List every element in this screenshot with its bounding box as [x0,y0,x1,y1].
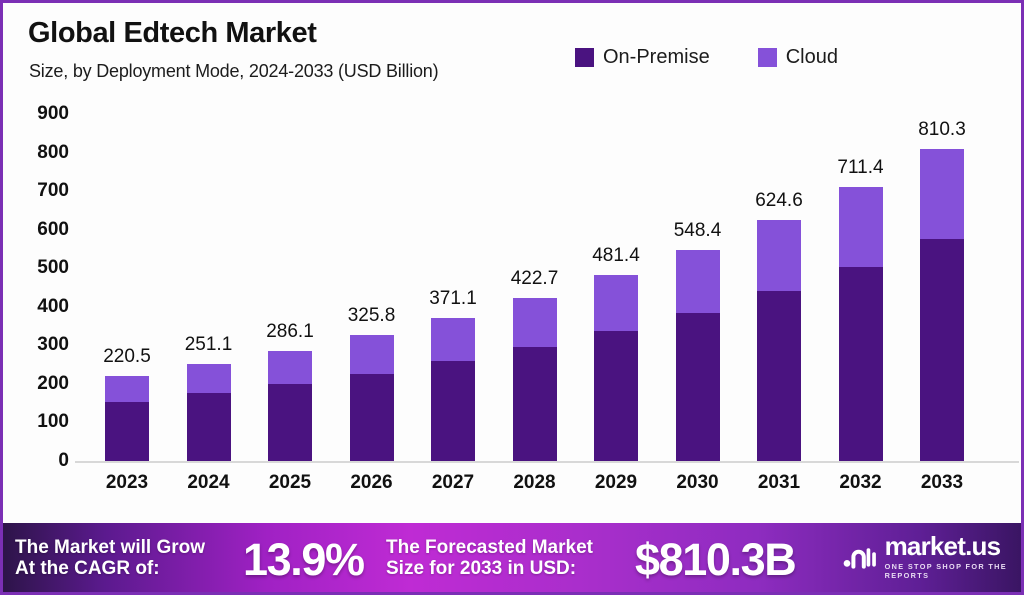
bar-segment-on-premise[interactable] [431,361,475,461]
forecast-value: $810.3B [635,537,795,582]
stacked-bar[interactable] [676,250,720,461]
bar-segment-cloud[interactable] [431,318,475,361]
stacked-bar[interactable] [594,275,638,461]
stacked-bar[interactable] [431,318,475,461]
bar-segment-on-premise[interactable] [350,374,394,461]
bar-segment-cloud[interactable] [839,187,883,268]
stacked-bar[interactable] [350,335,394,461]
bar-segment-cloud[interactable] [350,335,394,373]
bar-group[interactable]: 325.82026 [350,3,394,516]
bar-segment-cloud[interactable] [187,364,231,393]
cagr-label-line2: At the CAGR of: [15,558,245,579]
stacked-bar[interactable] [187,364,231,461]
bar-segment-cloud[interactable] [920,149,964,240]
chart-plot-area: 0100200300400500600700800900 220.5202325… [3,3,1024,516]
bar-value-label: 371.1 [398,288,508,310]
stacked-bar[interactable] [839,187,883,461]
infographic-root: Global Edtech Market Size, by Deployment… [0,0,1024,595]
bar-segment-on-premise[interactable] [839,267,883,461]
bar-group[interactable]: 548.42030 [676,3,720,516]
brand-logo[interactable]: market.us ONE STOP SHOP FOR THE REPORTS [843,533,1021,580]
x-axis-tick: 2033 [887,472,997,494]
bar-group[interactable]: 624.62031 [757,3,801,516]
bar-value-label: 711.4 [806,157,916,179]
bar-group[interactable]: 251.12024 [187,3,231,516]
bar-segment-cloud[interactable] [594,275,638,330]
bar-segment-cloud[interactable] [513,298,557,346]
bar-segment-cloud[interactable] [757,220,801,291]
bar-segment-cloud[interactable] [268,351,312,384]
cagr-label-line1: The Market will Grow [15,537,245,558]
bar-group[interactable]: 286.12025 [268,3,312,516]
bar-value-label: 481.4 [561,245,671,267]
bar-value-label: 422.7 [480,268,590,290]
bar-segment-on-premise[interactable] [187,393,231,461]
cagr-label: The Market will Grow At the CAGR of: [15,537,245,580]
bar-group[interactable]: 481.42029 [594,3,638,516]
bar-segment-on-premise[interactable] [757,291,801,461]
bar-value-label: 624.6 [724,190,834,212]
stacked-bar[interactable] [105,376,149,461]
bar-segment-cloud[interactable] [105,376,149,402]
bar-group[interactable]: 422.72028 [513,3,557,516]
bar-group[interactable]: 810.32033 [920,3,964,516]
bar-segment-on-premise[interactable] [105,402,149,461]
bar-segment-cloud[interactable] [676,250,720,313]
bar-group[interactable]: 711.42032 [839,3,883,516]
forecast-label-line2: Size for 2033 in USD: [386,558,641,579]
bar-group[interactable]: 220.52023 [105,3,149,516]
bar-segment-on-premise[interactable] [513,347,557,462]
bar-group[interactable]: 371.12027 [431,3,475,516]
stacked-bar[interactable] [268,351,312,461]
logo-tagline: ONE STOP SHOP FOR THE REPORTS [885,562,1021,580]
bar-value-label: 810.3 [887,119,997,141]
bar-segment-on-premise[interactable] [594,331,638,461]
bar-segment-on-premise[interactable] [920,239,964,461]
stacked-bar[interactable] [920,149,964,461]
bar-series-container: 220.52023251.12024286.12025325.82026371.… [3,3,1024,516]
market-us-bars-icon [843,540,877,574]
cagr-value: 13.9% [243,537,364,582]
logo-wordmark: market.us [885,533,1021,559]
stacked-bar[interactable] [757,220,801,461]
stacked-bar[interactable] [513,298,557,461]
forecast-label-line1: The Forecasted Market [386,537,641,558]
bar-segment-on-premise[interactable] [676,313,720,461]
bar-value-label: 548.4 [643,220,753,242]
forecast-label: The Forecasted Market Size for 2033 in U… [386,537,641,580]
bar-segment-on-premise[interactable] [268,384,312,461]
